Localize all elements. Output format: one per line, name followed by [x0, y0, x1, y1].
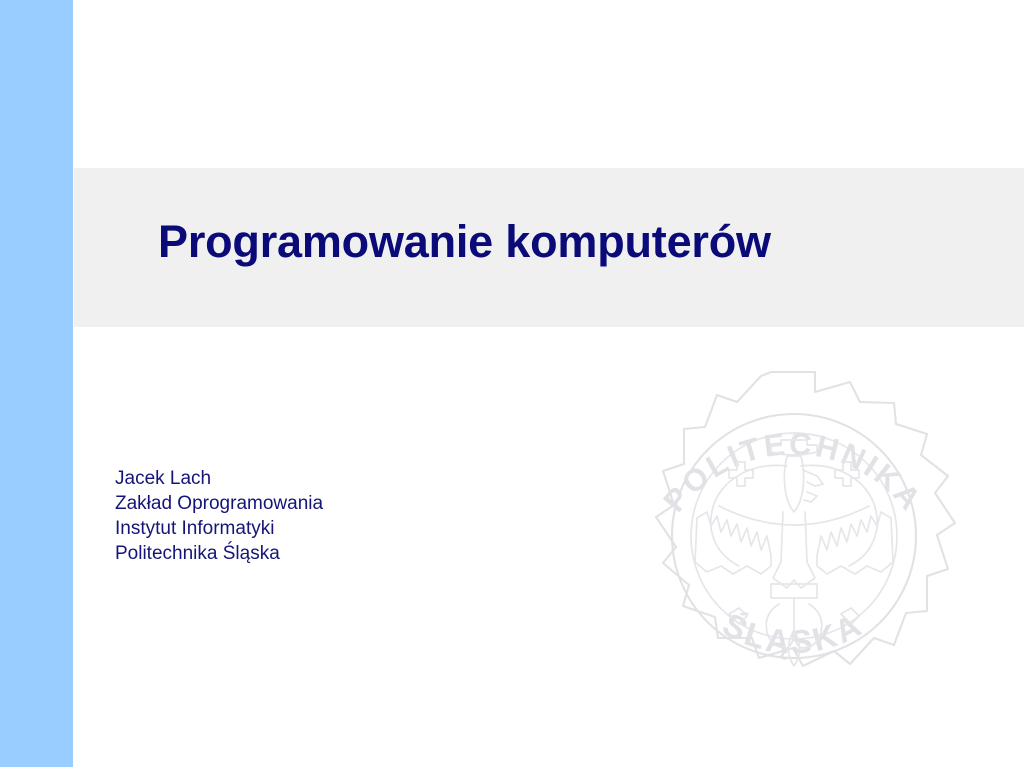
presentation-title-slide: Programowanie komputerów Jacek Lach Zakł…: [0, 0, 1024, 767]
author-line-institute: Instytut Informatyki: [115, 516, 323, 541]
seal-top-text: POLITECHNIKA: [656, 426, 929, 518]
author-line-department: Zakład Oprogramowania: [115, 491, 323, 516]
author-affiliation-block: Jacek Lach Zakład Oprogramowania Instytu…: [115, 466, 323, 566]
university-seal-watermark-icon: POLITECHNIKA ŚLĄSKA: [611, 366, 975, 712]
author-line-university: Politechnika Śląska: [115, 541, 323, 566]
seal-bottom-text: ŚLĄSKA: [717, 605, 869, 660]
author-line-name: Jacek Lach: [115, 466, 323, 491]
page-title: Programowanie komputerów: [158, 214, 771, 270]
left-accent-bar: [0, 0, 73, 767]
